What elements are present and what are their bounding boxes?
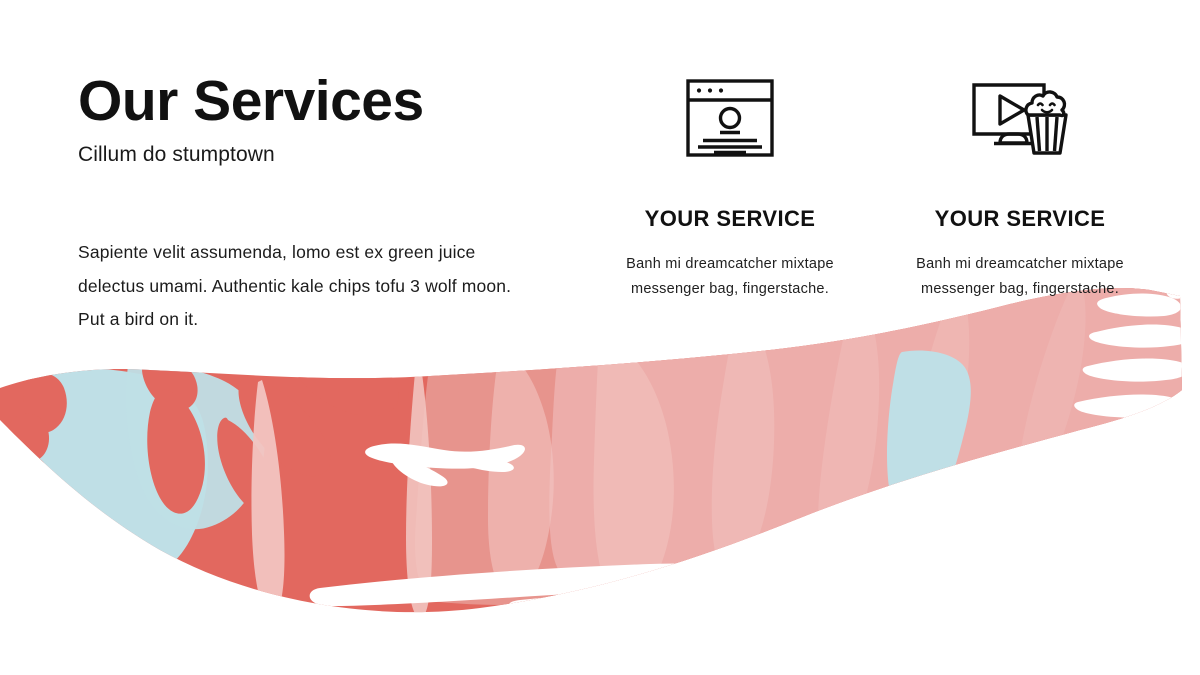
slide-canvas: Our Services Cillum do stumptown Sapient…: [0, 0, 1200, 675]
brush-blue-patch-left: [32, 365, 265, 580]
service-card-1[interactable]: YOUR SERVICE Banh mi dreamcatcher mixtap…: [585, 72, 875, 302]
services-row: YOUR SERVICE Banh mi dreamcatcher mixtap…: [585, 72, 1165, 302]
brush-salmon-overlay: [415, 273, 1192, 605]
page-title: Our Services: [78, 72, 548, 131]
service-description: Banh mi dreamcatcher mixtape messenger b…: [599, 252, 861, 302]
brush-charcoal-streak: [957, 492, 1059, 629]
brush-frayed-tip: [1026, 279, 1196, 536]
page-subtitle: Cillum do stumptown: [78, 143, 548, 167]
brush-bottom-arcs: [310, 563, 799, 636]
body-paragraph: Sapiente velit assumenda, lomo est ex gr…: [78, 236, 528, 337]
service-title: YOUR SERVICE: [935, 206, 1106, 232]
service-card-2[interactable]: YOUR SERVICE Banh mi dreamcatcher mixtap…: [875, 72, 1165, 302]
brush-coral-streaks: [8, 341, 399, 514]
headline-block: Our Services Cillum do stumptown: [78, 72, 548, 167]
brush-blue-patch-right: [887, 351, 971, 524]
service-description: Banh mi dreamcatcher mixtape messenger b…: [889, 252, 1151, 302]
service-title: YOUR SERVICE: [645, 206, 816, 232]
monitor-popcorn-icon: [970, 72, 1070, 164]
browser-profile-icon: [684, 72, 776, 164]
